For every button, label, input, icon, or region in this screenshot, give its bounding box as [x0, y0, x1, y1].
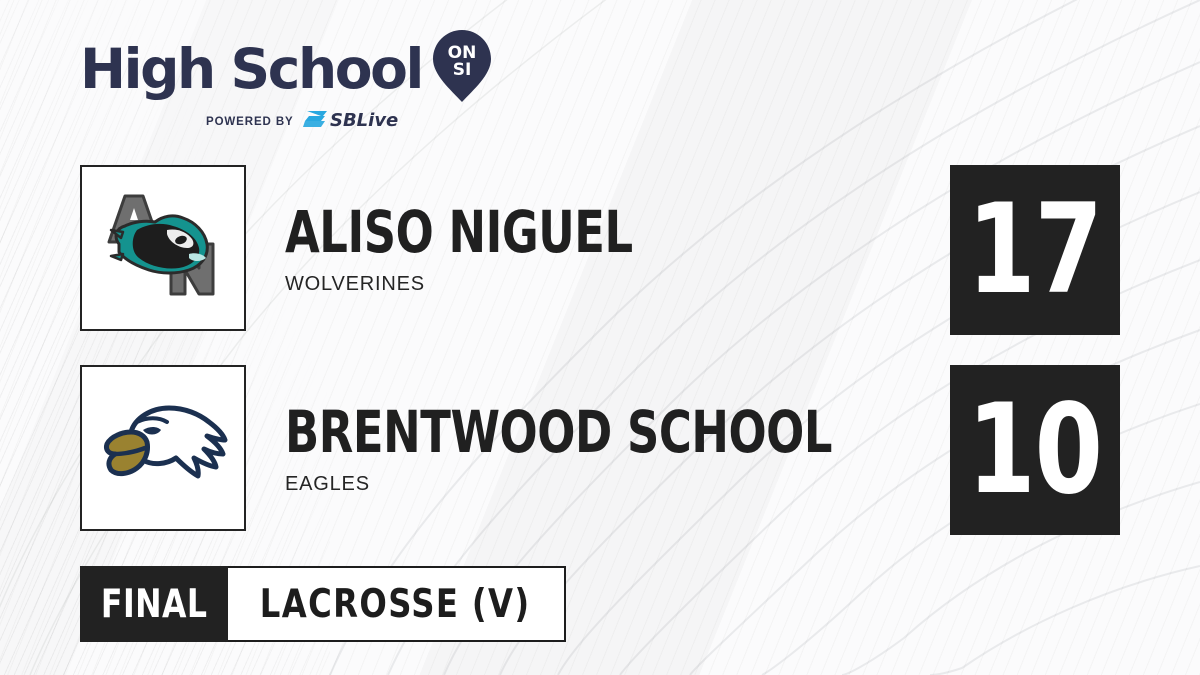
brand-header: High School ON SI POWERED BY SBLive: [80, 36, 520, 132]
team-logo-box: [80, 165, 246, 331]
team-name: BRENTWOOD SCHOOL: [285, 404, 832, 460]
powered-by-label: POWERED BY: [206, 116, 294, 128]
brentwood-school-eagles-logo: [97, 392, 229, 505]
pin-label-si: SI: [453, 60, 472, 80]
aliso-niguel-wolverines-logo: [97, 186, 229, 311]
team-score: 17: [968, 188, 1103, 312]
team-mascot: WOLVERINES: [285, 273, 689, 296]
sblive-wordmark: SBLive: [330, 110, 398, 130]
status-bar: FINAL LACROSSE (V): [80, 566, 566, 642]
team-score-box: 10: [950, 365, 1120, 535]
on-si-pin-icon: ON SI: [431, 28, 493, 109]
team-row: ALISO NIGUEL WOLVERINES 17: [80, 165, 1120, 335]
sblive-s-icon: [303, 111, 327, 127]
game-state-label: FINAL: [101, 582, 208, 627]
team-info: ALISO NIGUEL WOLVERINES: [285, 165, 689, 335]
team-score-box: 17: [950, 165, 1120, 335]
brand-row: High School ON SI: [80, 36, 520, 102]
sblive-logo: SBLive: [303, 108, 407, 135]
score-graphic: High School ON SI POWERED BY SBLive: [0, 0, 1200, 675]
team-name: ALISO NIGUEL: [285, 204, 633, 260]
powered-by-row: POWERED BY SBLive: [206, 108, 520, 135]
sport-label-box: LACROSSE (V): [228, 566, 566, 642]
team-score: 10: [968, 388, 1103, 512]
brand-wordmark: High School: [80, 39, 422, 99]
team-mascot: EAGLES: [285, 473, 921, 496]
team-logo-box: [80, 365, 246, 531]
sport-label: LACROSSE (V): [260, 582, 531, 627]
game-state-badge: FINAL: [80, 566, 228, 642]
team-row: BRENTWOOD SCHOOL EAGLES 10: [80, 365, 1120, 535]
team-info: BRENTWOOD SCHOOL EAGLES: [285, 365, 921, 535]
